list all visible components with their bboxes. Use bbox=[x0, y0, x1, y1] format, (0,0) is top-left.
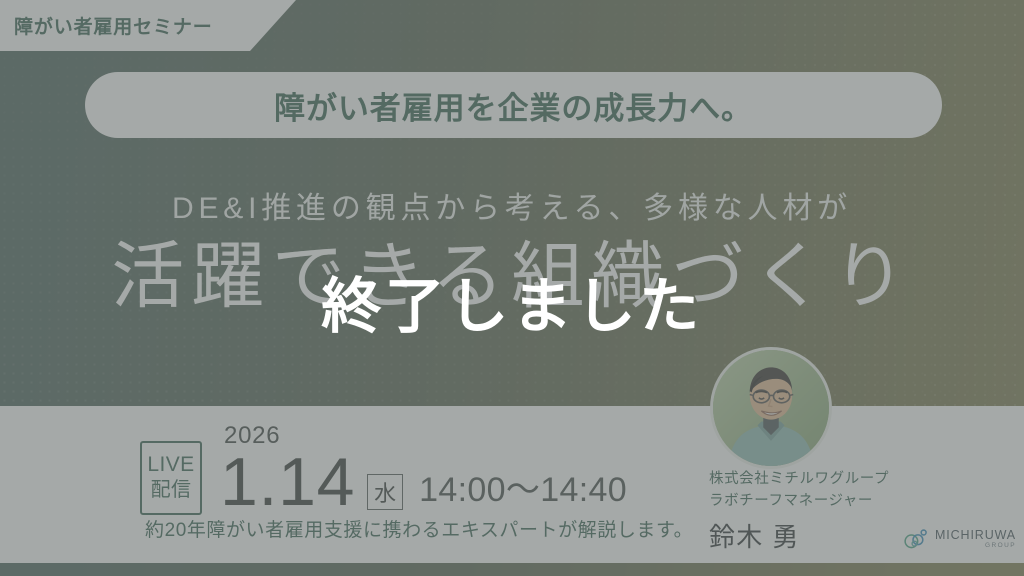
event-day-of-week: 水 bbox=[367, 474, 403, 510]
pill-headline-text: 障がい者雇用を企業の成長力へ。 bbox=[274, 83, 753, 128]
event-month-day: 1.14 bbox=[220, 450, 355, 515]
tagline-pill: 障がい者雇用を企業の成長力へ。 bbox=[85, 72, 942, 138]
live-badge-bottom-label: 配信 bbox=[151, 478, 192, 502]
seminar-ribbon: 障がい者雇用セミナー bbox=[0, 0, 296, 51]
footer-gradient-strip bbox=[0, 563, 1024, 576]
speaker-avatar bbox=[710, 347, 832, 469]
brand-wordmark: MICHIRUWA GROUP bbox=[935, 529, 1016, 550]
seminar-banner: 障がい者雇用セミナー 障がい者雇用を企業の成長力へ。 DE&I推進の観点から考え… bbox=[0, 0, 1024, 576]
expert-tagline: 約20年障がい者雇用支援に携わるエキスパートが解説します。 bbox=[145, 515, 693, 542]
speaker-company: 株式会社ミチルワグループ bbox=[709, 468, 889, 490]
date-main: 2026 1.14 水 14:00〜14:40 bbox=[220, 424, 627, 515]
brand-name: MICHIRUWA bbox=[935, 529, 1016, 542]
date-row: 1.14 水 14:00〜14:40 bbox=[220, 424, 627, 515]
speaker-role: ラボチーフマネージャー bbox=[709, 490, 889, 512]
live-badge: LIVE 配信 bbox=[140, 441, 202, 515]
event-time-range: 14:00〜14:40 bbox=[419, 462, 627, 511]
live-badge-top-label: LIVE bbox=[147, 453, 194, 478]
speaker-name: 鈴木 勇 bbox=[709, 517, 889, 554]
michiruwa-logo: MICHIRUWA GROUP bbox=[903, 527, 1016, 551]
michiruwa-swirl-icon bbox=[903, 527, 929, 551]
hero-subline: DE&I推進の観点から考える、多様な人材が bbox=[0, 183, 1024, 227]
speaker-info: 株式会社ミチルワグループ ラボチーフマネージャー 鈴木 勇 bbox=[709, 468, 889, 554]
status-ended-label: 終了しました bbox=[0, 258, 1024, 345]
event-year: 2026 bbox=[224, 422, 280, 450]
brand-sub: GROUP bbox=[935, 543, 1016, 550]
schedule-block: LIVE 配信 2026 1.14 水 14:00〜14:40 bbox=[140, 424, 627, 515]
portrait-illustration bbox=[713, 350, 829, 466]
ribbon-label: 障がい者雇用セミナー bbox=[0, 12, 213, 39]
